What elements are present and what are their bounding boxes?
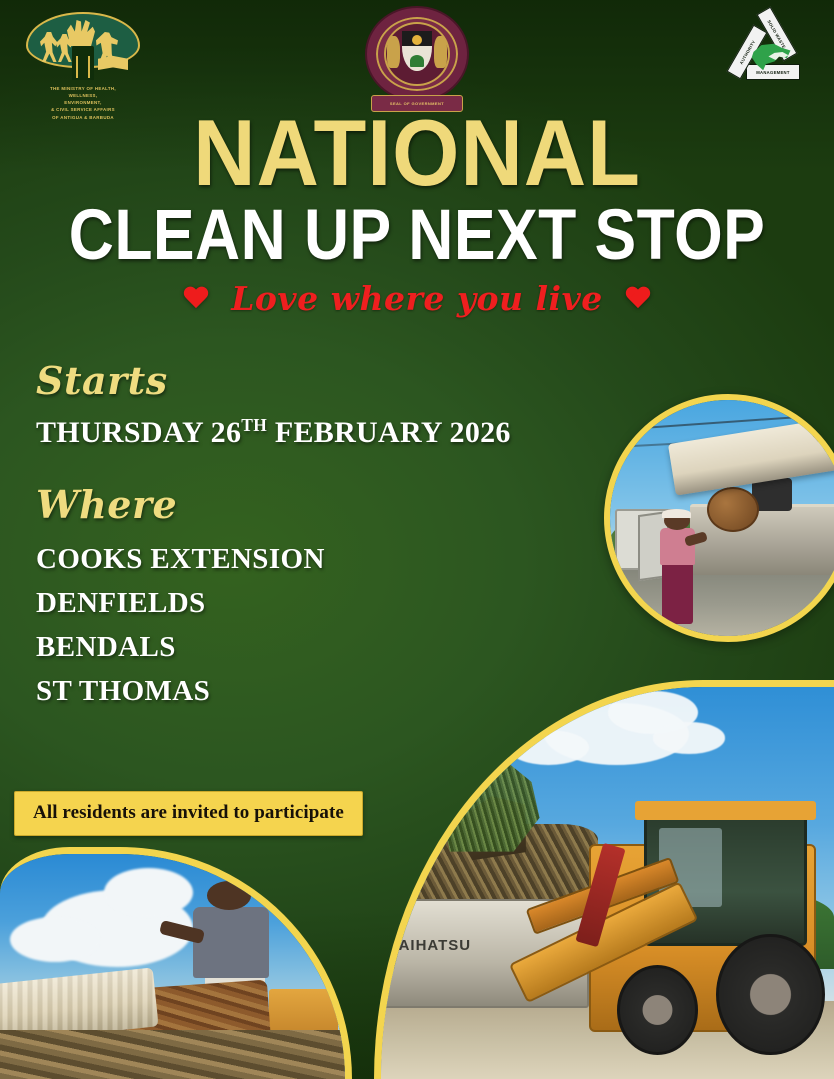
poster-root: THE MINISTRY OF HEALTH, WELLNESS, ENVIRO… (0, 0, 834, 1079)
seal-inner-disc (384, 22, 450, 86)
scene-cloud (10, 917, 100, 962)
recycle-arm-icon: MANAGEMENT (746, 64, 800, 80)
recycle-arm-label: AUTHORITY (738, 39, 756, 65)
scene-cloud (653, 722, 725, 753)
heart-icon (183, 287, 209, 311)
location-item: BENDALS (36, 625, 656, 669)
location-item: ST THOMAS (36, 669, 656, 713)
seal-supporter-left-icon (387, 36, 400, 68)
heart-icon (625, 287, 651, 311)
ministry-caption-line: OF ANTIGUA & BARBUDA (14, 114, 152, 121)
where-label: Where (36, 482, 656, 527)
ministry-caption-line: & CIVIL SERVICE AFFAIRS (14, 106, 152, 113)
waste-authority-logo: SOLID WASTE MANAGEMENT AUTHORITY (724, 14, 820, 102)
loader-roof (635, 801, 816, 821)
photo-bulky-waste (0, 847, 352, 1079)
tree-trunk-shape (72, 46, 94, 80)
headline-primary: NATIONAL (33, 110, 800, 196)
recycling-triangle-icon: SOLID WASTE MANAGEMENT AUTHORITY (724, 14, 820, 102)
loader-rear-wheel (716, 934, 825, 1056)
worker-trousers (662, 562, 693, 624)
seal-ribbon-text: SEAL OF GOVERNMENT (390, 101, 444, 106)
invitation-banner-text: All residents are invited to participate (33, 802, 344, 823)
coat-of-arms-icon (367, 8, 467, 100)
details-block: Starts THURSDAY 26TH FEBRUARY 2026 Where… (36, 358, 656, 713)
location-item: COOKS EXTENSION (36, 537, 656, 581)
ministry-caption-line: WELLNESS, (14, 92, 152, 99)
truck-brand-label: DAIHATSU (387, 937, 471, 954)
starts-label: Starts (36, 358, 656, 403)
worker-cap (662, 509, 691, 518)
photo-backhoe-loader: DAIHATSU (374, 680, 834, 1079)
headline-block: NATIONAL CLEAN UP NEXT STOP Love where y… (0, 110, 834, 318)
ministry-caption-line: ENVIRONMENT, (14, 99, 152, 106)
starts-date-month-year: FEBRUARY 2026 (267, 416, 511, 449)
government-seal: SEAL OF GOVERNMENT (359, 8, 475, 112)
photo-bulky-waste-image (0, 854, 345, 1079)
location-list: COOKS EXTENSION DENFIELDS BENDALS ST THO… (36, 537, 656, 713)
seal-sun-icon (412, 35, 422, 45)
seal-ribbon: SEAL OF GOVERNMENT (371, 95, 463, 112)
where-block: Where COOKS EXTENSION DENFIELDS BENDALS … (36, 482, 656, 713)
worker-shirt (193, 907, 269, 977)
recycle-arm-label: MANAGEMENT (756, 70, 789, 75)
starts-date-ordinal: TH (241, 415, 267, 435)
photo-backhoe-loader-image: DAIHATSU (381, 687, 834, 1079)
tagline-row: Love where you live (0, 279, 834, 318)
starts-date: THURSDAY 26TH FEBRUARY 2026 (36, 415, 656, 450)
loader-front-wheel (617, 965, 699, 1055)
location-item: DENFIELDS (36, 581, 656, 625)
seal-supporter-right-icon (434, 36, 447, 68)
ministry-caption: THE MINISTRY OF HEALTH, WELLNESS, ENVIRO… (14, 85, 152, 121)
scene-metal-drum (707, 487, 759, 532)
invitation-banner: All residents are invited to participate (14, 791, 363, 836)
scene-worker (660, 511, 695, 624)
worker-shirt (660, 528, 695, 565)
headline-secondary: CLEAN UP NEXT STOP (50, 200, 784, 271)
open-book-icon (98, 56, 128, 70)
ministry-logo: THE MINISTRY OF HEALTH, WELLNESS, ENVIRO… (14, 12, 152, 121)
worker-head (207, 881, 251, 910)
tree-with-people-icon (22, 12, 144, 82)
scene-cloud (104, 868, 194, 918)
scene-waste-pile (0, 1030, 345, 1079)
logo-row: THE MINISTRY OF HEALTH, WELLNESS, ENVIRO… (0, 0, 834, 118)
ministry-caption-line: THE MINISTRY OF HEALTH, (14, 85, 152, 92)
starts-date-day: THURSDAY 26 (36, 416, 241, 449)
tagline-text: Love where you live (231, 279, 603, 318)
